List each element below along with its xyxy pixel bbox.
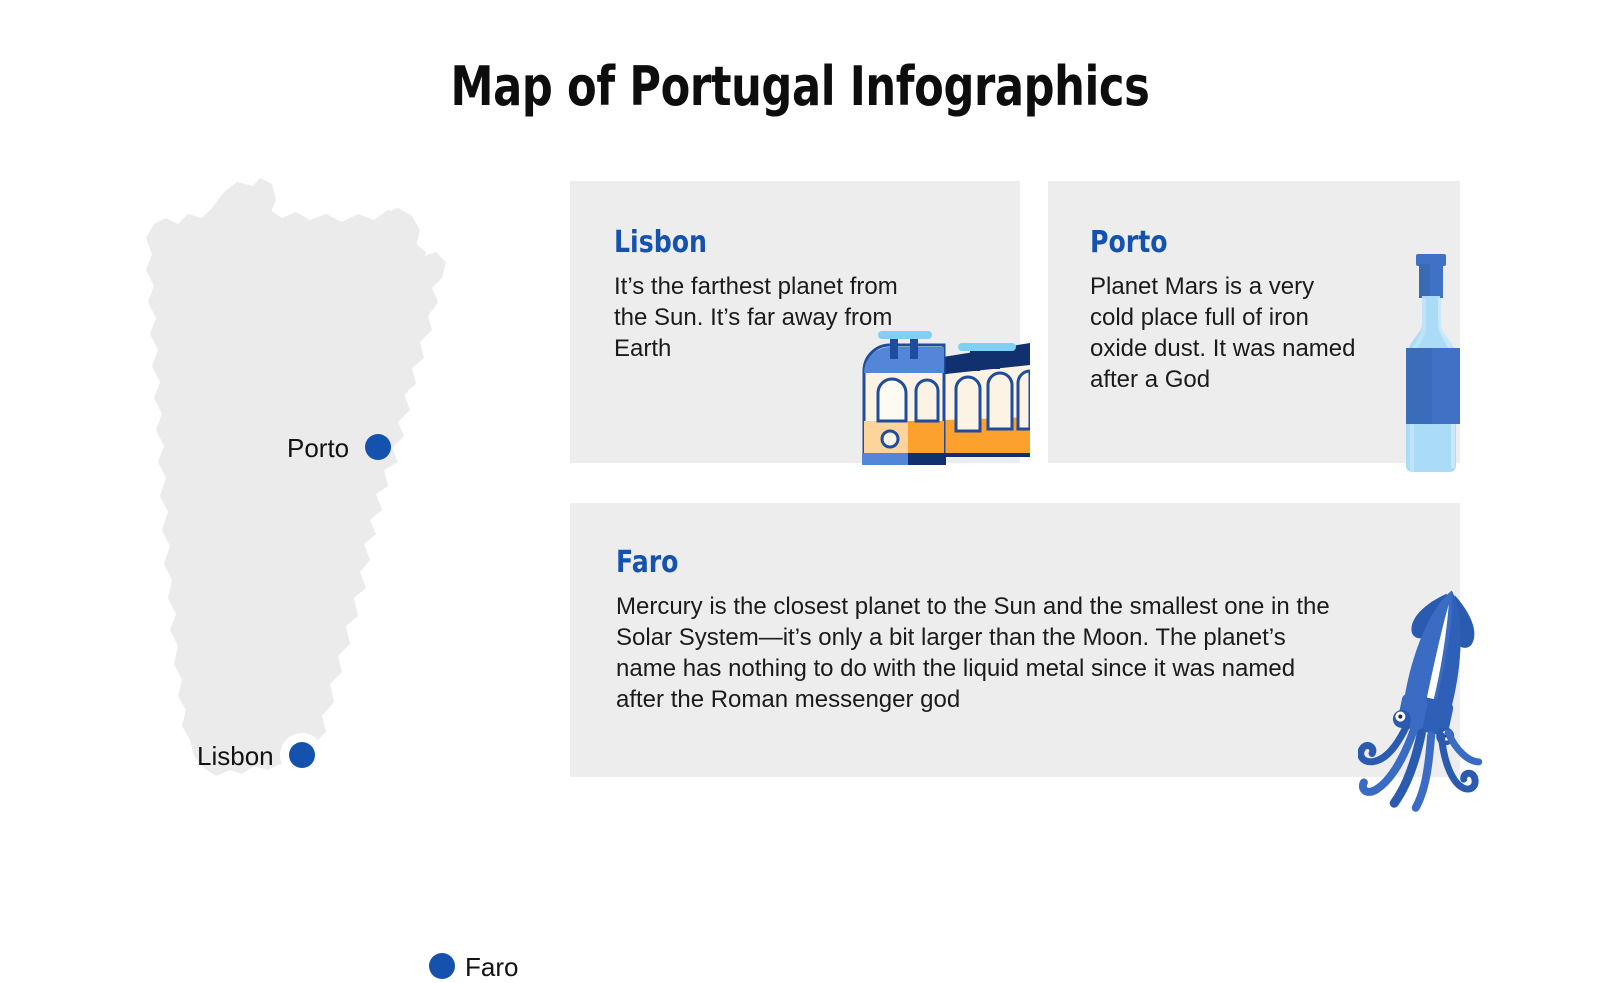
portugal-map: Porto Lisbon Faro — [120, 170, 500, 850]
tram-icon — [858, 325, 1030, 477]
card-body-faro: Mercury is the closest planet to the Sun… — [616, 591, 1346, 715]
card-heading-faro: Faro — [616, 545, 678, 580]
info-card-faro[interactable]: Faro Mercury is the closest planet to th… — [570, 503, 1460, 777]
map-label-porto: Porto — [287, 433, 349, 464]
map-label-lisbon: Lisbon — [197, 741, 274, 772]
map-label-faro: Faro — [465, 952, 518, 983]
card-heading-lisbon: Lisbon — [614, 225, 707, 260]
card-heading-porto: Porto — [1090, 225, 1168, 260]
map-marker-faro[interactable] — [429, 953, 455, 979]
map-marker-lisbon[interactable] — [289, 742, 315, 768]
wine-bottle-icon — [1398, 252, 1466, 472]
squid-icon — [1358, 582, 1498, 817]
slide-canvas: Map of Portugal Infographics Porto Lisbo… — [0, 0, 1600, 900]
map-marker-porto[interactable] — [365, 434, 391, 460]
card-body-porto: Planet Mars is a very cold place full of… — [1090, 271, 1358, 395]
page-title: Map of Portugal Infographics — [160, 55, 1440, 118]
